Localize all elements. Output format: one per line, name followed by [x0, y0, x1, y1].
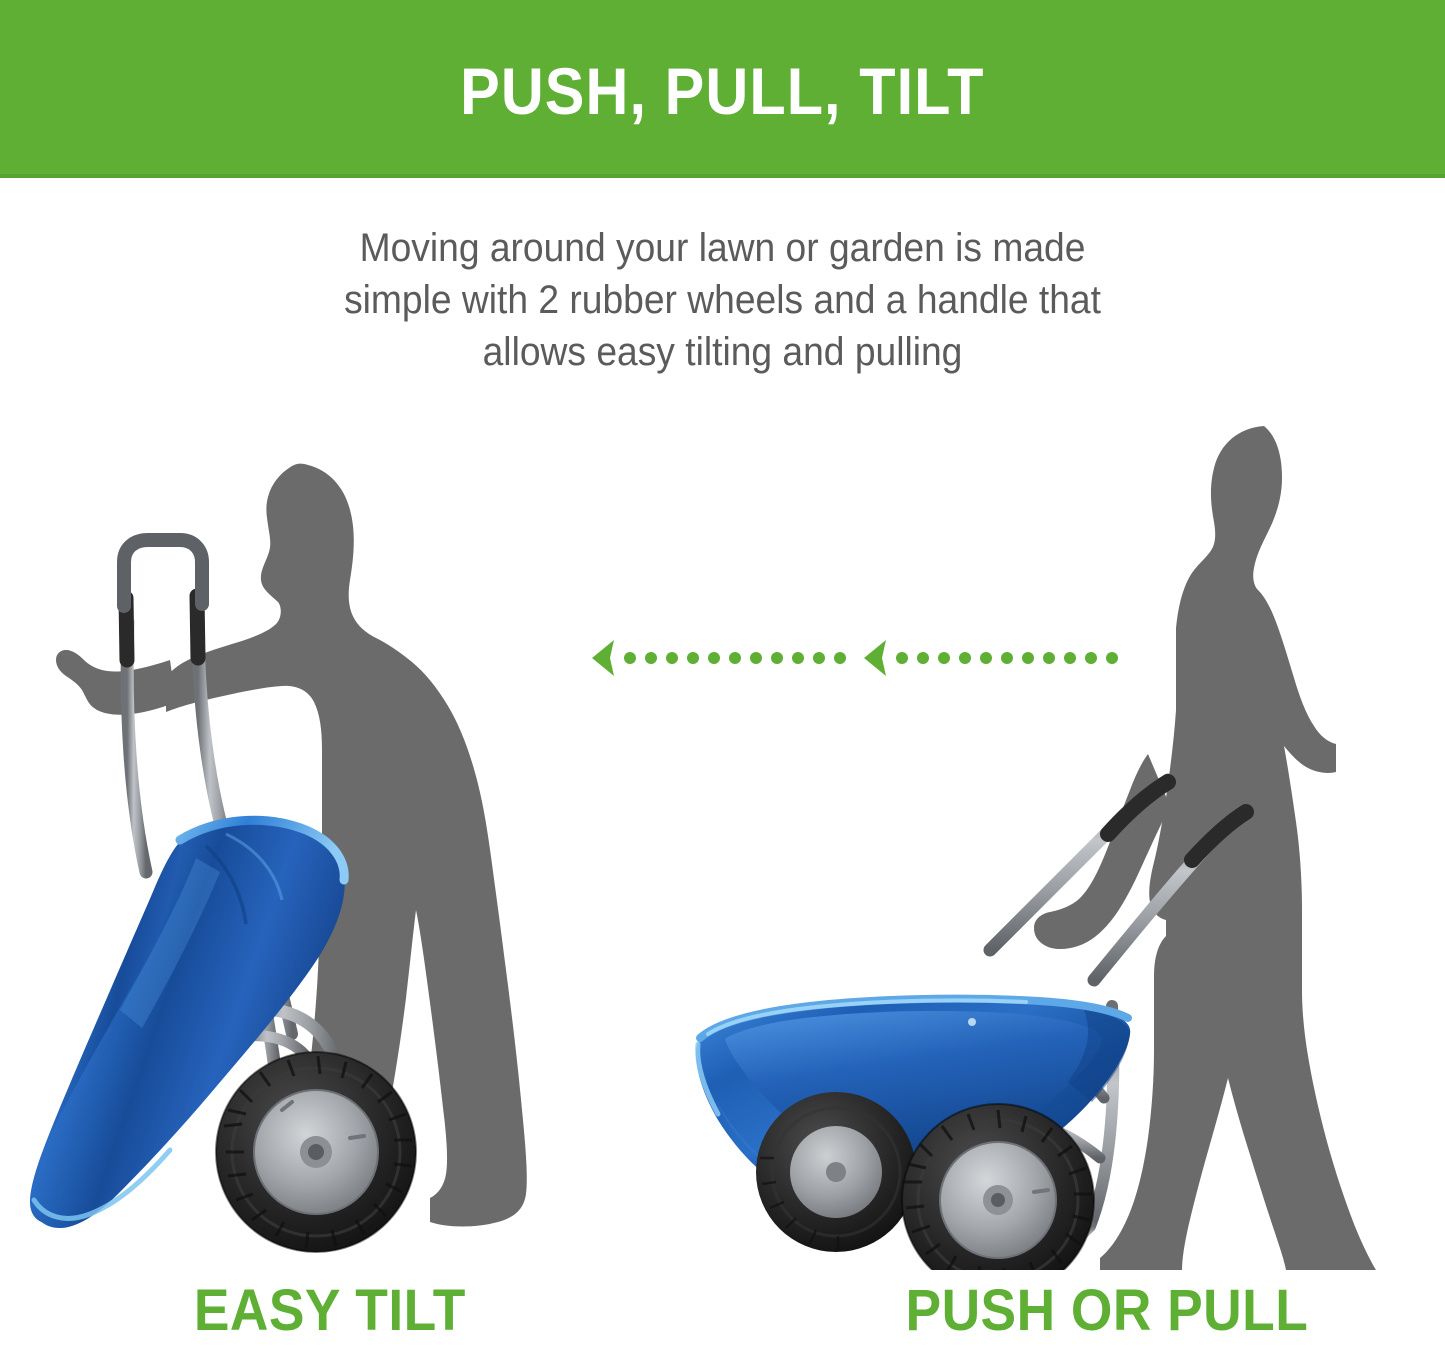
- scene-easy-tilt: [20, 410, 640, 1270]
- header-banner: PUSH, PULL, TILT: [0, 0, 1445, 178]
- arrowhead-icon-1: [592, 640, 614, 676]
- barrow-bolt: [968, 1018, 976, 1026]
- subtitle-line-1: Moving around your lawn or garden is mad…: [51, 222, 1395, 274]
- caption-push-or-pull: PUSH OR PULL: [905, 1282, 1308, 1340]
- subtitle-line-2: simple with 2 rubber wheels and a handle…: [51, 274, 1395, 326]
- wheel-front: [216, 1052, 416, 1252]
- caption-easy-tilt: EASY TILT: [194, 1282, 466, 1340]
- wheel-far: [756, 1092, 916, 1252]
- product-feature-graphic: PUSH, PULL, TILT Moving around your lawn…: [0, 0, 1445, 1366]
- page-title: PUSH, PULL, TILT: [460, 58, 984, 124]
- caption-cell-right: PUSH OR PULL: [723, 1282, 1445, 1366]
- subtitle-block: Moving around your lawn or garden is mad…: [51, 222, 1395, 378]
- scene-push-or-pull: [660, 410, 1390, 1270]
- subtitle-line-3: allows easy tilting and pulling: [51, 326, 1395, 378]
- caption-row: EASY TILT PUSH OR PULL: [0, 1282, 1445, 1366]
- caption-cell-left: EASY TILT: [0, 1282, 723, 1366]
